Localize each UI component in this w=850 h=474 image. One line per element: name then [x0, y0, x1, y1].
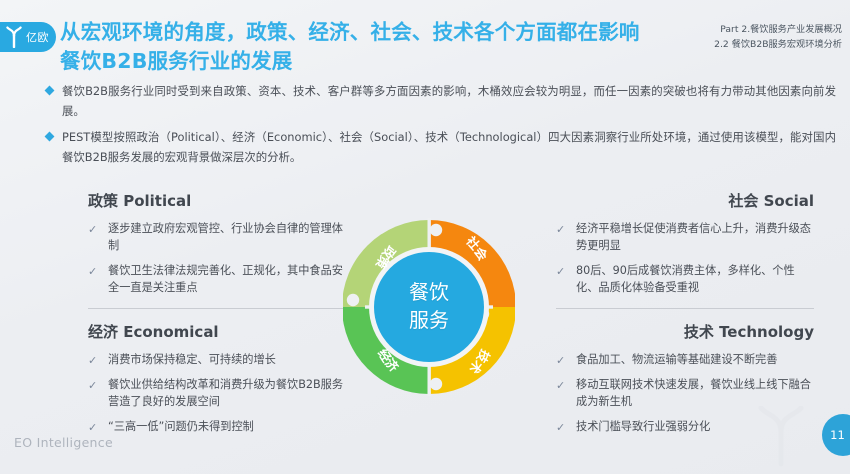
- seam-bottom: [428, 366, 431, 396]
- list-item-text: 餐饮卫生法律法规完善化、正规化，其中食品安全一直是关注重点: [108, 262, 346, 297]
- list-item-text: 80后、90后成餐饮消费主体，多样化、个性化、品质化体验备受重视: [576, 262, 814, 297]
- list-item: ✓ 逐步建立政府宏观管控、行业协会自律的管理体制: [88, 220, 346, 255]
- intro-bullet-text: PEST模型按照政治（Political）、经济（Economic）、社会（So…: [62, 128, 836, 167]
- section-heading: 经济 Economical: [88, 321, 346, 342]
- list-item-text: 经济平稳增长促使消费者信心上升，消费升级态势更明显: [576, 220, 814, 255]
- breadcrumb: Part 2.餐饮服务产业发展概况 2.2 餐饮B2B服务宏观环境分析: [714, 23, 842, 53]
- list-item-text: 消费市场保持稳定、可持续的增长: [108, 351, 276, 368]
- section-heading: 政策 Political: [88, 190, 346, 211]
- page-number: 11: [830, 428, 845, 442]
- breadcrumb-section: 2.2 餐饮B2B服务宏观环境分析: [714, 38, 842, 53]
- check-icon: ✓: [88, 221, 101, 238]
- check-icon: ✓: [556, 263, 569, 280]
- page-title: 从宏观环境的角度，政策、经济、社会、技术各个方面都在影响餐饮B2B服务行业的发展: [60, 18, 650, 76]
- column-right: 社会 Social ✓ 经济平稳增长促使消费者信心上升，消费升级态势更明显 ✓ …: [556, 190, 814, 443]
- intro-bullet-text: 餐饮B2B服务行业同时受到来自政策、资本、技术、客户群等多方面因素的影响，木桶效…: [62, 82, 836, 121]
- list-item: ✓ 消费市场保持稳定、可持续的增长: [88, 351, 346, 369]
- section-divider: [556, 308, 814, 309]
- brand-logo-text: 亿欧: [26, 29, 49, 45]
- donut-core: [374, 252, 484, 362]
- list-item-text: 食品加工、物流运输等基础建设不断完善: [576, 351, 777, 368]
- list-item: ✓ 食品加工、物流运输等基础建设不断完善: [556, 351, 814, 369]
- list-item: ✓ 经济平稳增长促使消费者信心上升，消费升级态势更明显: [556, 220, 814, 255]
- section-political: 政策 Political ✓ 逐步建立政府宏观管控、行业协会自律的管理体制 ✓ …: [88, 190, 346, 297]
- check-icon: ✓: [556, 352, 569, 369]
- list-item: ✓ 餐饮业供给结构改革和消费升级为餐饮B2B服务营造了良好的发展空间: [88, 376, 346, 411]
- list-item-text: 餐饮业供给结构改革和消费升级为餐饮B2B服务营造了良好的发展空间: [108, 376, 346, 411]
- list-item: 餐饮B2B服务行业同时受到来自政策、资本、技术、客户群等多方面因素的影响，木桶效…: [46, 82, 836, 121]
- section-divider: [88, 308, 346, 309]
- list-item: ✓ 餐饮卫生法律法规完善化、正规化，其中食品安全一直是关注重点: [88, 262, 346, 297]
- pest-donut-svg: 政策 社会 经济 技术: [343, 196, 515, 418]
- puzzle-knob-top: [430, 224, 442, 236]
- check-icon: ✓: [88, 352, 101, 369]
- check-icon: ✓: [556, 419, 569, 436]
- diamond-bullet-icon: [45, 132, 55, 142]
- footer-brand: EO Intelligence: [14, 435, 113, 450]
- brand-logo: 亿欧: [0, 22, 56, 52]
- section-social: 社会 Social ✓ 经济平稳增长促使消费者信心上升，消费升级态势更明显 ✓ …: [556, 190, 814, 297]
- section-heading: 技术 Technology: [556, 321, 814, 342]
- seam-top: [428, 218, 431, 248]
- yiou-tree-icon: [4, 26, 24, 48]
- check-icon: ✓: [88, 419, 101, 436]
- check-icon: ✓: [556, 377, 569, 394]
- list-item-text: 技术门槛导致行业强弱分化: [576, 418, 710, 435]
- puzzle-knob-left: [347, 294, 359, 306]
- section-economical: 经济 Economical ✓ 消费市场保持稳定、可持续的增长 ✓ 餐饮业供给结…: [88, 321, 346, 436]
- list-item: ✓ “三高一低”问题仍未得到控制: [88, 418, 346, 436]
- column-left: 政策 Political ✓ 逐步建立政府宏观管控、行业协会自律的管理体制 ✓ …: [88, 190, 346, 443]
- breadcrumb-part: Part 2.餐饮服务产业发展概况: [714, 23, 842, 38]
- check-icon: ✓: [556, 221, 569, 238]
- section-heading: 社会 Social: [556, 190, 814, 211]
- list-item: PEST模型按照政治（Political）、经济（Economic）、社会（So…: [46, 128, 836, 167]
- list-item: ✓ 80后、90后成餐饮消费主体，多样化、个性化、品质化体验备受重视: [556, 262, 814, 297]
- pest-donut-diagram: 政策 社会 经济 技术 餐饮 服务: [343, 196, 515, 418]
- puzzle-knob-bottom: [430, 378, 442, 390]
- check-icon: ✓: [88, 377, 101, 394]
- diamond-bullet-icon: [45, 86, 55, 96]
- list-item-text: “三高一低”问题仍未得到控制: [108, 418, 254, 435]
- page-number-badge: 11: [822, 414, 850, 456]
- yiou-watermark-icon: [748, 406, 814, 468]
- intro-bullet-list: 餐饮B2B服务行业同时受到来自政策、资本、技术、客户群等多方面因素的影响，木桶效…: [46, 82, 836, 174]
- list-item-text: 逐步建立政府宏观管控、行业协会自律的管理体制: [108, 220, 346, 255]
- check-icon: ✓: [88, 263, 101, 280]
